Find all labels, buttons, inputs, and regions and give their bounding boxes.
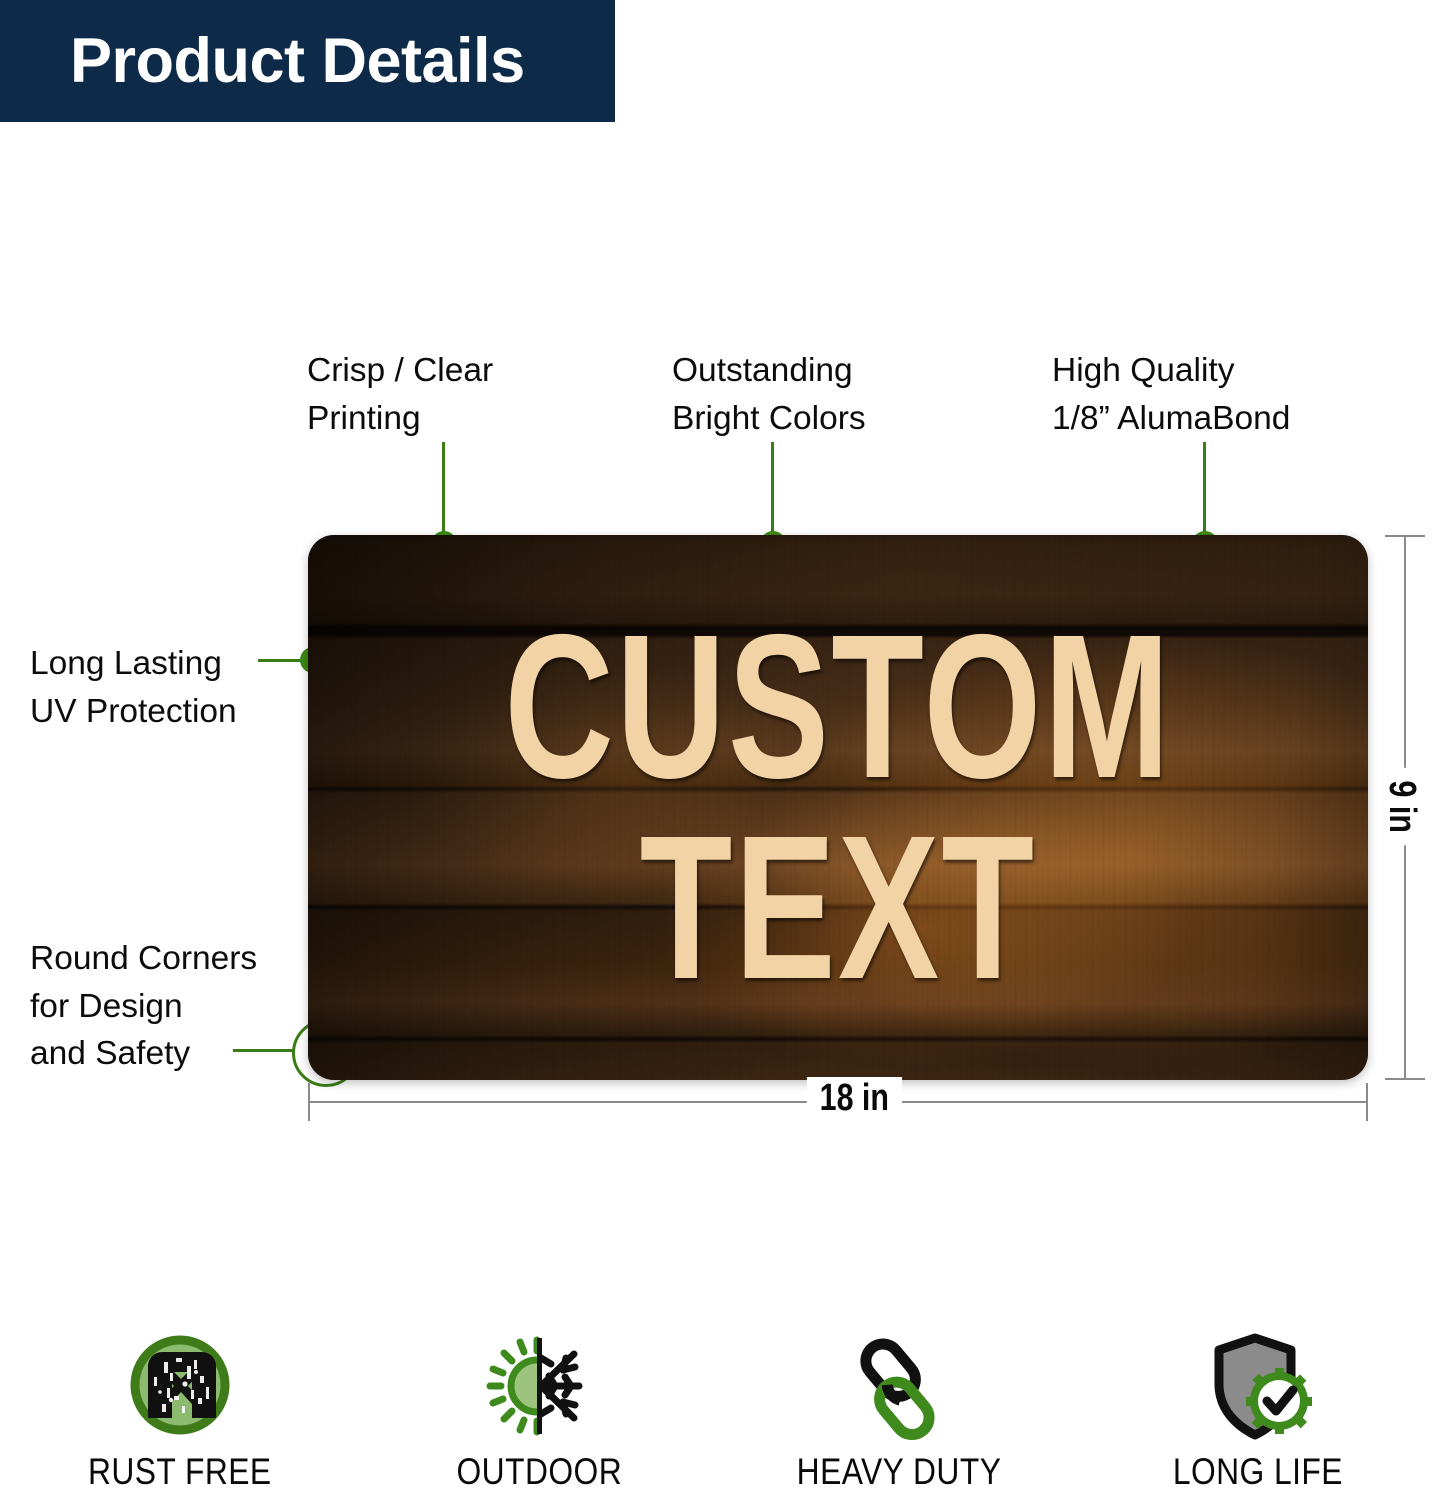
- leader-line-alumabond: [1203, 442, 1206, 537]
- feature-label-outdoor: OUTDOOR: [456, 1451, 622, 1493]
- callout-long-lasting-uv-protection: Long Lasting UV Protection: [30, 640, 237, 735]
- product-sign-preview: CUSTOM TEXT: [308, 535, 1368, 1080]
- dimension-cap-right: [1366, 1083, 1368, 1121]
- shield-clock-check-icon: [1199, 1330, 1317, 1445]
- feature-outdoor: OUTDOOR: [360, 1330, 720, 1500]
- rust-free-icon: [124, 1330, 236, 1445]
- sun-snowflake-icon: [479, 1330, 599, 1445]
- chain-link-icon: [843, 1330, 955, 1445]
- dimension-cap-bottom: [1385, 1078, 1425, 1080]
- page-title: Product Details: [70, 30, 525, 93]
- leader-line-bright: [771, 442, 774, 537]
- feature-label-long-life: LONG LIFE: [1173, 1451, 1343, 1493]
- feature-long-life: LONG LIFE: [1079, 1330, 1438, 1500]
- feature-label-rust-free: RUST FREE: [88, 1451, 272, 1493]
- feature-rust-free: RUST FREE: [0, 1330, 360, 1500]
- callout-crisp-clear-printing: Crisp / Clear Printing: [307, 347, 493, 442]
- dimension-label-height: 9 in: [1380, 768, 1423, 846]
- leader-line-crisp: [442, 442, 445, 537]
- header-banner: Product Details: [0, 0, 615, 122]
- sign-text-block: CUSTOM TEXT: [308, 535, 1368, 1080]
- feature-label-heavy-duty: HEAVY DUTY: [796, 1451, 1001, 1493]
- leader-line-round: [233, 1049, 295, 1052]
- feature-badges-row: RUST FREE: [0, 1330, 1438, 1500]
- callout-round-corners: Round Corners for Design and Safety: [30, 935, 257, 1078]
- sign-text-line-1: CUSTOM: [504, 611, 1172, 804]
- infographic-canvas: Product Details Crisp / Clear Printing O…: [0, 0, 1438, 1500]
- sign-text-line-2: TEXT: [640, 812, 1037, 1005]
- callout-high-quality-alumabond: High Quality 1/8” AlumaBond: [1052, 347, 1290, 442]
- callout-outstanding-bright-colors: Outstanding Bright Colors: [672, 347, 866, 442]
- feature-heavy-duty: HEAVY DUTY: [719, 1330, 1079, 1500]
- dimension-label-width: 18 in: [807, 1077, 902, 1120]
